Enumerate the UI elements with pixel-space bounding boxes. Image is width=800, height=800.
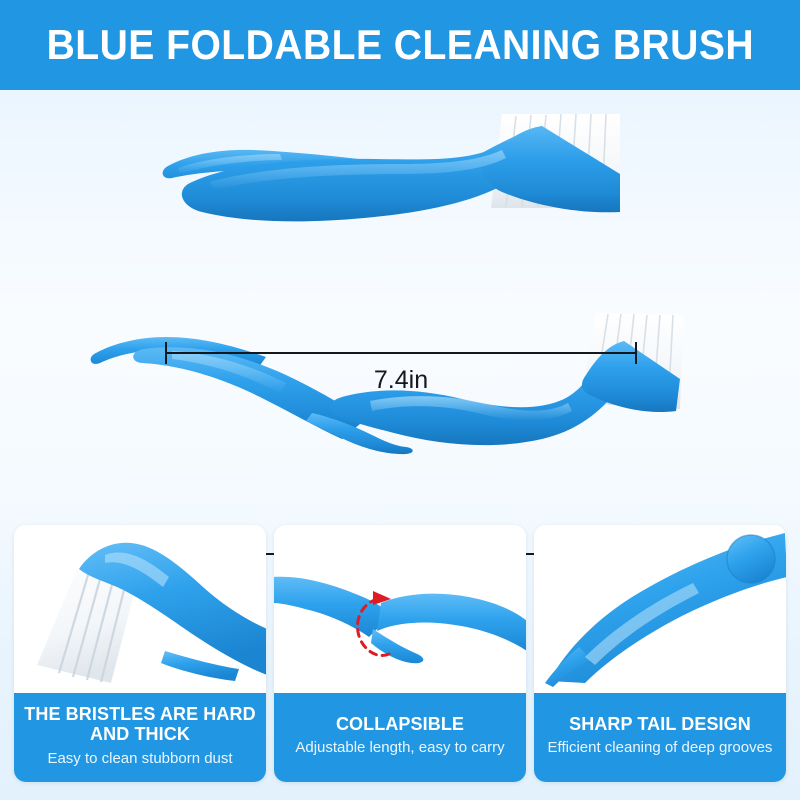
feature-subtitle-collapsible: Adjustable length, easy to carry	[295, 739, 504, 756]
feature-photo-hinge	[274, 525, 526, 693]
feature-subtitle-sharp-tail: Efficient cleaning of deep grooves	[548, 739, 773, 756]
feature-caption-sharp-tail: SHARP TAIL DESIGN Efficient cleaning of …	[534, 693, 786, 782]
feature-panels: THE BRISTLES ARE HARD AND THICK Easy to …	[0, 520, 800, 800]
dimension-label-7-4in: 7.4in	[165, 366, 637, 395]
feature-subtitle-bristles: Easy to clean stubborn dust	[47, 750, 232, 767]
dimension-line	[165, 352, 637, 354]
brush-handle-body	[330, 348, 629, 445]
feature-card-sharp-tail: SHARP TAIL DESIGN Efficient cleaning of …	[534, 525, 786, 782]
feature-title-sharp-tail: SHARP TAIL DESIGN	[569, 714, 751, 734]
feature-card-bristles: THE BRISTLES ARE HARD AND THICK Easy to …	[14, 525, 266, 782]
feature-title-collapsible: COLLAPSIBLE	[336, 714, 464, 734]
feature-caption-collapsible: COLLAPSIBLE Adjustable length, easy to c…	[274, 693, 526, 782]
hero-section: 7.4in 10.4in	[0, 90, 800, 520]
feature-caption-bristles: THE BRISTLES ARE HARD AND THICK Easy to …	[14, 693, 266, 782]
header-banner: BLUE FOLDABLE CLEANING BRUSH	[0, 0, 800, 90]
feature-photo-sharp-tail	[534, 525, 786, 693]
feature-photo-bristles	[14, 525, 266, 693]
folded-brush-photo	[150, 108, 660, 238]
page-title: BLUE FOLDABLE CLEANING BRUSH	[46, 21, 753, 69]
feature-title-bristles: THE BRISTLES ARE HARD AND THICK	[22, 704, 258, 744]
feature-card-collapsible: COLLAPSIBLE Adjustable length, easy to c…	[274, 525, 526, 782]
infographic-page: BLUE FOLDABLE CLEANING BRUSH	[0, 0, 800, 800]
